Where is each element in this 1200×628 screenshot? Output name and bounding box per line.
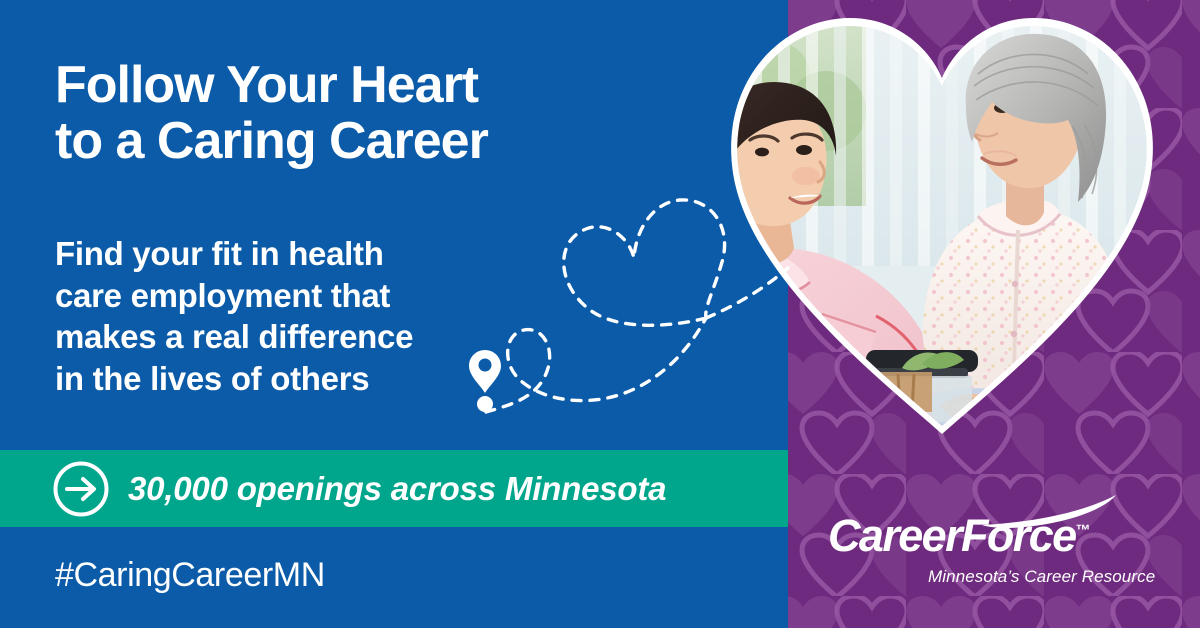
subheadline-line-1: Find your fit in health (55, 233, 475, 275)
logo-tagline: Minnesota’s Career Resource (928, 567, 1155, 587)
subheadline-line-2: care employment that (55, 275, 475, 317)
heart-photo-frame (726, 16, 1158, 436)
subheadline: Find your fit in health care employment … (55, 233, 475, 399)
logo-trademark: ™ (1076, 522, 1091, 539)
trail-start-dot-icon (474, 393, 496, 415)
openings-callout-band[interactable]: 30,000 openings across Minnesota (0, 450, 788, 527)
headline-line-1: Follow Your Heart (55, 57, 675, 113)
arrow-right-circle-icon (52, 460, 110, 518)
campaign-banner: Follow Your Heart to a Caring Career Fin… (0, 0, 1200, 628)
openings-callout-text: 30,000 openings across Minnesota (128, 470, 666, 508)
page-title: Follow Your Heart to a Caring Career (55, 57, 675, 169)
headline-line-2: to a Caring Career (55, 113, 675, 169)
subheadline-line-3: makes a real difference (55, 316, 475, 358)
careerforce-logo: CareerForce™ Minnesota’s Career Resource (828, 494, 1118, 594)
hashtag: #CaringCareerMN (55, 556, 325, 595)
logo-name: CareerForce (828, 510, 1076, 561)
logo-wordmark: CareerForce™ (828, 510, 1091, 562)
subheadline-line-4: in the lives of others (55, 358, 475, 400)
